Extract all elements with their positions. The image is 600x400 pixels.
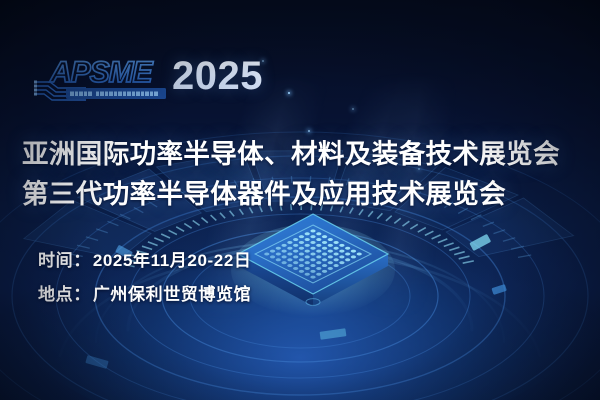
event-venue-label: 地点： <box>38 278 91 312</box>
event-date-label: 时间： <box>38 244 91 278</box>
event-date-value: 2025年11月20-22日 <box>93 244 252 278</box>
event-info: 时间： 2025年11月20-22日 地点： 广州保利世贸博览馆 <box>38 244 251 312</box>
event-venue-row: 地点： 广州保利世贸博览馆 <box>38 278 251 312</box>
page-title: 亚洲国际功率半导体、材料及装备技术展览会 第三代功率半导体器件及应用技术展览会 <box>22 134 584 214</box>
svg-text:APSME: APSME <box>49 56 154 89</box>
year-label: 2025 <box>172 54 263 99</box>
apsme-logo[interactable]: APSME <box>34 52 174 106</box>
event-venue-value: 广州保利世贸博览馆 <box>93 278 251 312</box>
semiconductor-chip-icon <box>228 206 398 326</box>
exhibition-banner: APSME 2025 亚洲国际功率半导体、材料及装备技术展览会 第三代功率半导体… <box>0 0 600 400</box>
headline-line-1: 亚洲国际功率半导体、材料及装备技术展览会 <box>22 134 584 174</box>
event-date-row: 时间： 2025年11月20-22日 <box>38 244 251 278</box>
headline-line-2: 第三代功率半导体器件及应用技术展览会 <box>22 174 584 214</box>
